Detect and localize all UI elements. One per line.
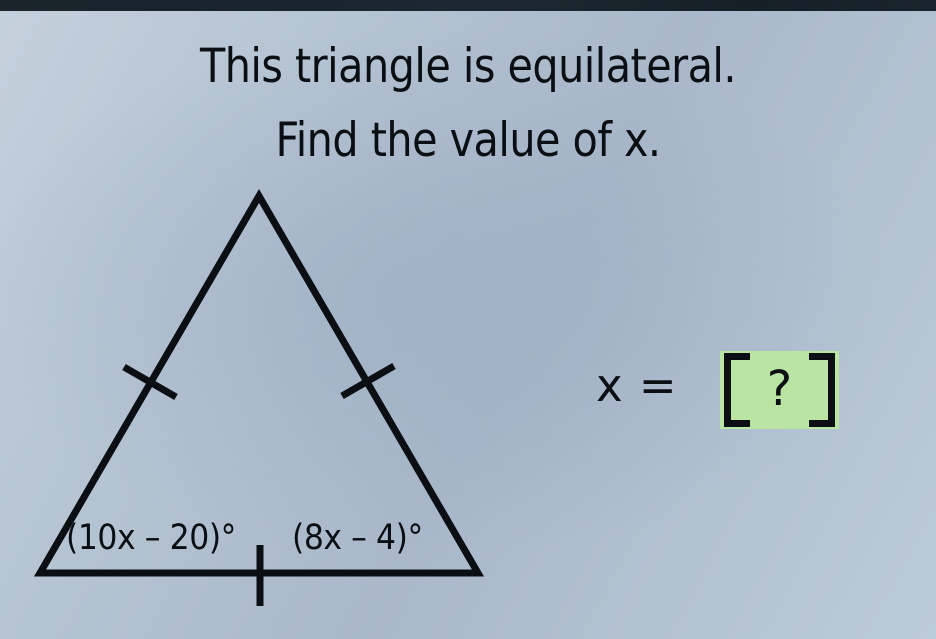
- answer-value: ?: [720, 358, 839, 420]
- tick-mark-right: [342, 366, 394, 396]
- answer-row: x = ?: [596, 348, 846, 432]
- answer-expression: x =: [596, 359, 678, 412]
- angle-label-left: (10x – 20)°: [66, 518, 236, 558]
- screenshot-canvas: This triangle is equilateral. Find the v…: [0, 0, 936, 639]
- angle-label-right: (8x – 4)°: [292, 518, 423, 558]
- triangle-outline: [40, 196, 478, 573]
- answer-input-box[interactable]: ?: [720, 351, 839, 429]
- tick-mark-left: [124, 367, 176, 397]
